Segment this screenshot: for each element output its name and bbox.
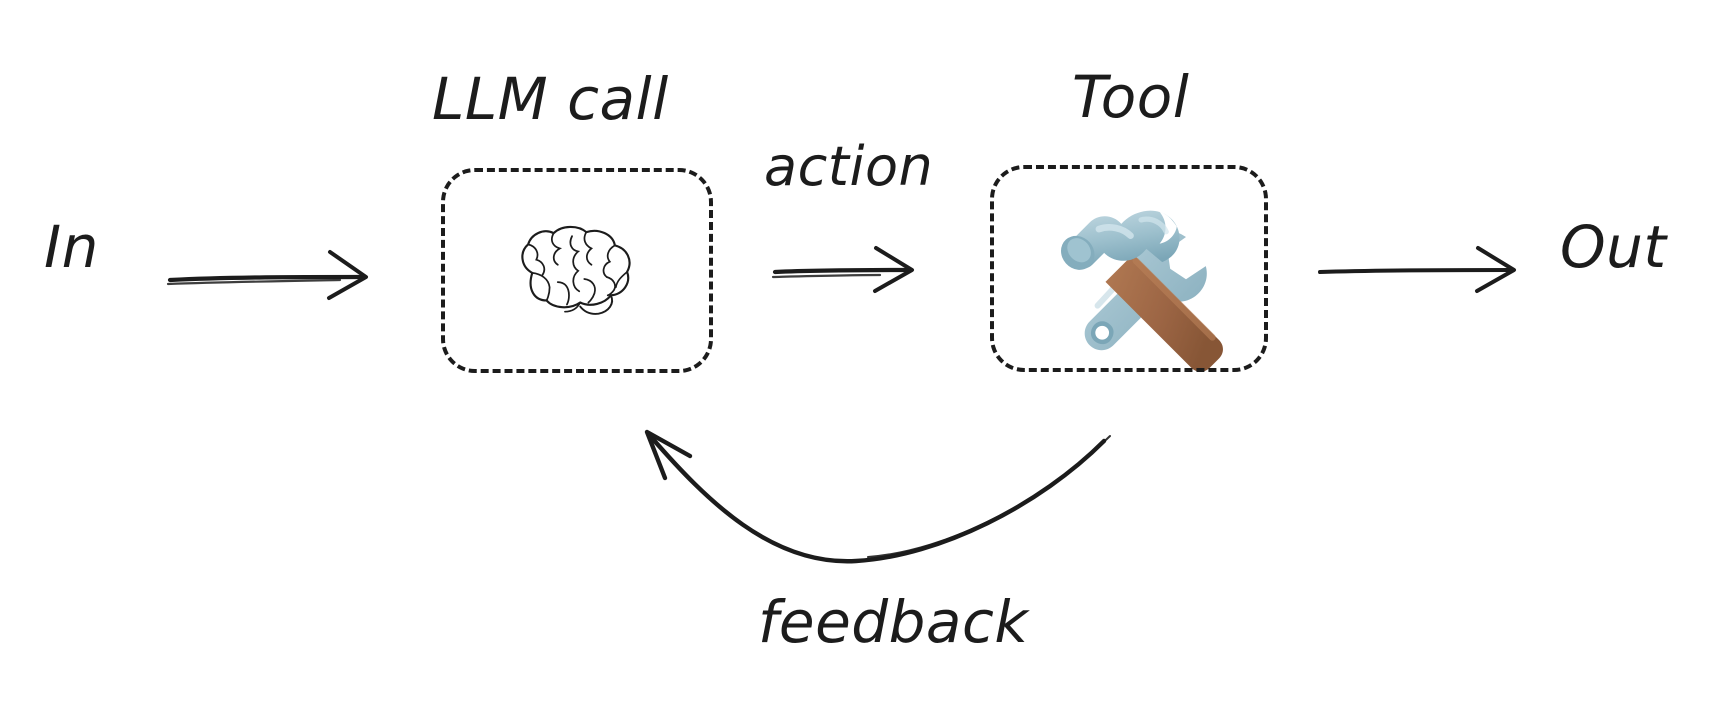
node-llm-call[interactable] (441, 168, 713, 373)
arrow-feedback (647, 432, 1110, 561)
label-feedback: feedback (758, 593, 1028, 651)
node-tool[interactable] (990, 165, 1268, 372)
diagram-canvas: In LLM call action Tool Out feedback (0, 0, 1732, 712)
label-tool: Tool (1072, 68, 1189, 126)
label-in: In (44, 218, 99, 276)
label-llm-call: LLM call (432, 70, 669, 128)
arrow-llm-to-tool (773, 248, 912, 291)
label-action: action (764, 140, 933, 194)
arrow-tool-to-out (1320, 248, 1514, 291)
arrow-in-to-llm (168, 252, 366, 298)
label-out: Out (1560, 218, 1667, 276)
